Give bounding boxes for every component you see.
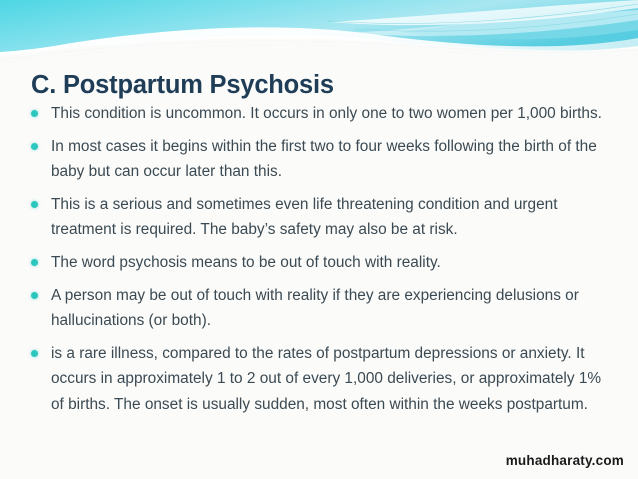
- list-item-text: In most cases it begins within the first…: [51, 134, 609, 185]
- list-item-text: A person may be out of touch with realit…: [51, 283, 609, 334]
- watermark-label: muhadharaty.com: [506, 453, 624, 468]
- list-item: This is a serious and sometimes even lif…: [29, 192, 609, 243]
- list-item: A person may be out of touch with realit…: [29, 283, 609, 334]
- bullet-dot-icon: [31, 259, 38, 266]
- bullet-dot-icon: [31, 201, 38, 208]
- list-item: is a rare illness, compared to the rates…: [29, 341, 609, 418]
- decorative-wave-banner: [0, 0, 638, 72]
- bullet-dot-icon: [31, 110, 38, 117]
- bullet-dot-icon: [31, 292, 38, 299]
- list-item-text: is a rare illness, compared to the rates…: [51, 341, 609, 418]
- slide-canvas: C. Postpartum Psychosis This condition i…: [0, 0, 638, 479]
- list-item-text: This is a serious and sometimes even lif…: [51, 192, 609, 243]
- bullet-dot-icon: [31, 350, 38, 357]
- slide-title: C. Postpartum Psychosis: [31, 71, 334, 100]
- list-item-text: This condition is uncommon. It occurs in…: [51, 101, 609, 127]
- bullet-list: This condition is uncommon. It occurs in…: [29, 101, 609, 418]
- list-item-text: The word psychosis means to be out of to…: [51, 250, 609, 276]
- list-item: The word psychosis means to be out of to…: [29, 250, 609, 276]
- list-item: This condition is uncommon. It occurs in…: [29, 101, 609, 127]
- bullet-dot-icon: [31, 143, 38, 150]
- list-item: In most cases it begins within the first…: [29, 134, 609, 185]
